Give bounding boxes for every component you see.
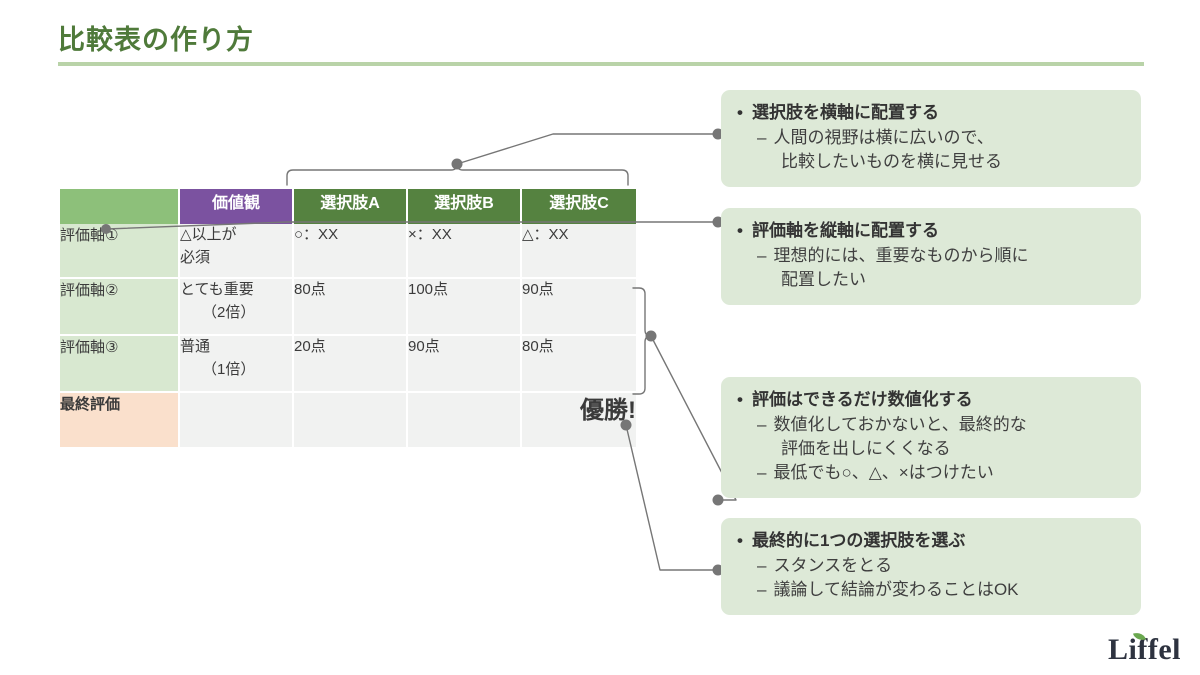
- table-header-blank: [60, 189, 179, 224]
- callout-dash: –: [757, 415, 766, 434]
- connector-line-1: [457, 134, 715, 164]
- callout-subitem-line1: 議論して結論が変わることはOK: [773, 580, 1018, 599]
- table-header-row: 価値観 選択肢A 選択肢B 選択肢C: [60, 189, 636, 224]
- callout-heading: 最終的に1つの選択肢を選ぶ: [737, 529, 1125, 554]
- callout-subitem-line1: 人間の視野は横に広いので、: [773, 128, 993, 147]
- row-axis-label: 評価軸①: [60, 224, 179, 278]
- callout-subitem-line1: 最低でも○、△、×はつけたい: [773, 463, 993, 482]
- row-cell-a: 80点: [293, 278, 407, 335]
- callout-subitem-line2: 比較したいものを横に見せる: [757, 150, 1125, 174]
- final-row-winner-badge: 優勝!: [521, 392, 636, 447]
- row-cell-b: ×：XX: [407, 224, 521, 278]
- row-value-cell: 普通 （1倍）: [179, 335, 293, 392]
- row-value-cell: △以上が 必須: [179, 224, 293, 278]
- callout-subitem-line2: 配置したい: [757, 268, 1125, 292]
- callout-box-quantify: 評価はできるだけ数値化する –数値化しておかないと、最終的な 評価を出しにくくな…: [721, 377, 1141, 498]
- callout-subitem: –数値化しておかないと、最終的な 評価を出しにくくなる: [737, 413, 1125, 461]
- callout-heading: 評価はできるだけ数値化する: [737, 388, 1125, 413]
- callout-box-choose-one: 最終的に1つの選択肢を選ぶ –スタンスをとる –議論して結論が変わることはOK: [721, 518, 1141, 615]
- row-value-line1: △以上が: [180, 226, 237, 243]
- row-value-line1: 普通: [180, 338, 210, 355]
- final-row-value: [179, 392, 293, 447]
- callout-subitem-line1: 数値化しておかないと、最終的な: [773, 415, 1026, 434]
- row-cell-c: 90点: [521, 278, 636, 335]
- connector-line-4: [626, 425, 715, 570]
- callout-subitem: –人間の視野は横に広いので、 比較したいものを横に見せる: [737, 126, 1125, 174]
- callout-subitem: –スタンスをとる: [737, 554, 1125, 578]
- table-header-value: 価値観: [179, 189, 293, 224]
- final-row-label: 最終評価: [60, 392, 179, 447]
- row-value-line1: とても重要: [180, 281, 254, 298]
- table-row: 評価軸② とても重要 （2倍） 80点 100点 90点: [60, 278, 636, 335]
- row-axis-label: 評価軸③: [60, 335, 179, 392]
- page-title: 比較表の作り方: [58, 18, 254, 57]
- callout-box-vertical-axis: 評価軸を縦軸に配置する –理想的には、重要なものから順に 配置したい: [721, 208, 1141, 305]
- callout-box-horizontal-axis: 選択肢を横軸に配置する –人間の視野は横に広いので、 比較したいものを横に見せる: [721, 90, 1141, 187]
- row-cell-a: ○：XX: [293, 224, 407, 278]
- callout-heading: 評価軸を縦軸に配置する: [737, 219, 1125, 244]
- row-value-cell: とても重要 （2倍）: [179, 278, 293, 335]
- table-row: 評価軸① △以上が 必須 ○：XX ×：XX △：XX: [60, 224, 636, 278]
- row-cell-c: △：XX: [521, 224, 636, 278]
- callout-dash: –: [757, 556, 766, 575]
- comparison-table: 価値観 選択肢A 選択肢B 選択肢C 評価軸① △以上が 必須 ○：XX ×：X…: [60, 189, 636, 447]
- brace-columns-top: [287, 164, 628, 185]
- row-cell-b: 90点: [407, 335, 521, 392]
- callout-subitem-line1: 理想的には、重要なものから順に: [773, 246, 1028, 265]
- callout-subitem: –最低でも○、△、×はつけたい: [737, 461, 1125, 485]
- row-value-line2: 必須: [180, 249, 210, 266]
- table-final-row: 最終評価 優勝!: [60, 392, 636, 447]
- connector-dot-brace-top: [452, 159, 463, 170]
- final-row-cell-b: [407, 392, 521, 447]
- connector-dot-brace-rows: [646, 331, 657, 342]
- callout-subitem-line1: スタンスをとる: [773, 556, 892, 575]
- callout-subitem-line2: 評価を出しにくくなる: [757, 437, 1125, 461]
- table-header-option-a: 選択肢A: [293, 189, 407, 224]
- row-cell-c: 80点: [521, 335, 636, 392]
- row-value-line2: （1倍）: [180, 359, 292, 382]
- table-header-option-c: 選択肢C: [521, 189, 636, 224]
- table-header-option-b: 選択肢B: [407, 189, 521, 224]
- row-axis-label: 評価軸②: [60, 278, 179, 335]
- row-cell-b: 100点: [407, 278, 521, 335]
- row-cell-a: 20点: [293, 335, 407, 392]
- callout-heading: 選択肢を横軸に配置する: [737, 101, 1125, 126]
- final-row-cell-a: [293, 392, 407, 447]
- connector-line-3b: [651, 336, 730, 500]
- connector-dot-callout-3: [713, 495, 724, 506]
- callout-subitem: –議論して結論が変わることはOK: [737, 578, 1125, 602]
- slide-canvas: 比較表の作り方 価値観 選択肢A 選択肢B 選択肢C 評価軸① △以上が 必須 …: [0, 0, 1200, 675]
- row-value-line2: （2倍）: [180, 302, 292, 325]
- table-row: 評価軸③ 普通 （1倍） 20点 90点 80点: [60, 335, 636, 392]
- callout-dash: –: [757, 463, 766, 482]
- callout-dash: –: [757, 580, 766, 599]
- callout-dash: –: [757, 128, 766, 147]
- title-underline-rule: [58, 62, 1144, 66]
- callout-dash: –: [757, 246, 766, 265]
- callout-subitem: –理想的には、重要なものから順に 配置したい: [737, 244, 1125, 292]
